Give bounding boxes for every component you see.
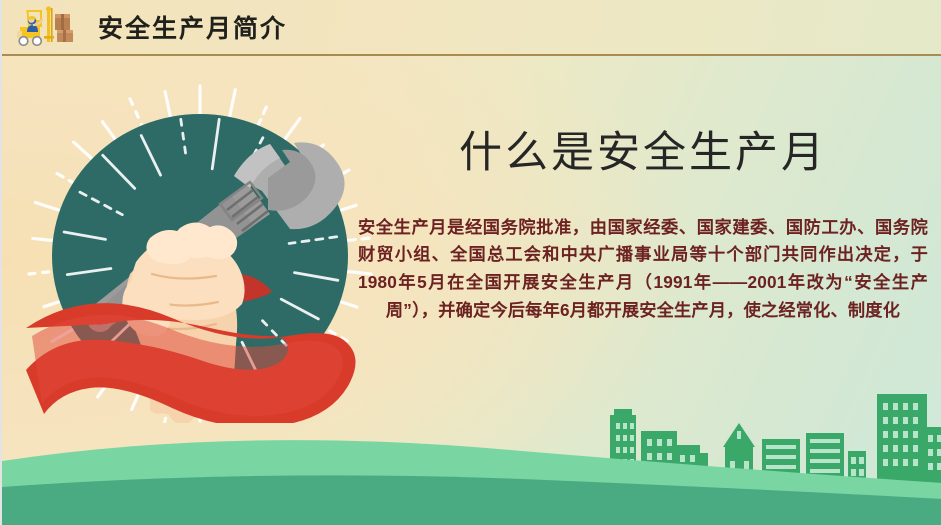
body-paragraph: 安全生产月是经国务院批准，由国家经委、国家建委、国防工办、国务院财贸小组、全国总… [354,214,932,325]
forklift-worker-icon [10,5,80,49]
green-city-skyline [2,365,941,525]
header-content: 安全生产月简介 [2,0,941,54]
header-divider-rule [2,54,941,56]
page-title: 什么是安全生产月 [354,128,932,180]
content-column: 什么是安全生产月 安全生产月是经国务院批准，由国家经委、国家建委、国防工办、国务… [354,128,932,325]
slide-canvas: 安全生产月简介 [0,0,941,525]
header-title: 安全生产月简介 [98,9,287,45]
